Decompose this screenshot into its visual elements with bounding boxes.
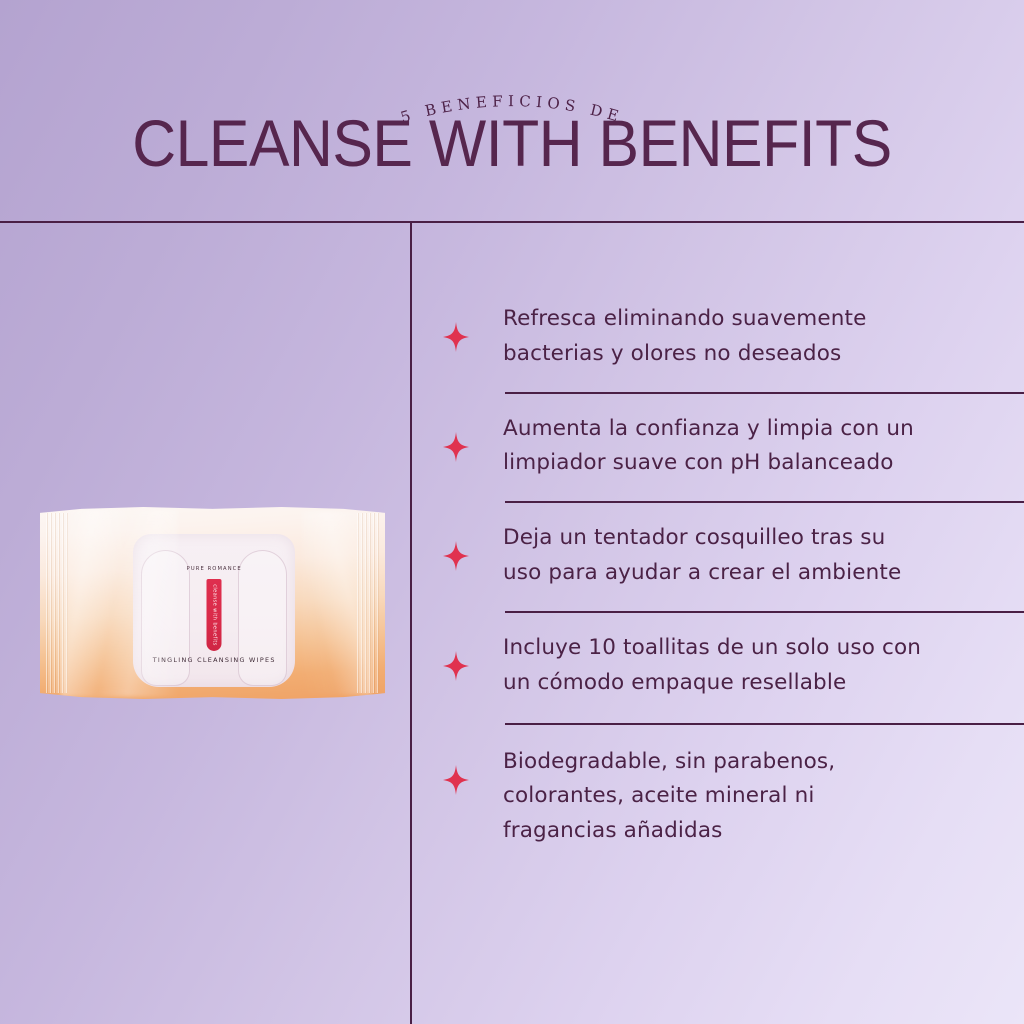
column-divider	[410, 223, 412, 1024]
pouch-crimp-right	[357, 513, 379, 693]
sparkle-icon	[443, 541, 475, 571]
product-name: TINGLING CLEANSING WIPES	[133, 655, 295, 666]
sparkle-icon	[443, 322, 475, 352]
benefit-text: Aumenta la confianza y limpia con un lim…	[475, 412, 1024, 482]
benefit-text: Refresca eliminando suavemente bacterias…	[475, 302, 1024, 372]
benefit-text: Incluye 10 toallitas de un solo uso con …	[475, 631, 1024, 701]
benefit-item-1: Refresca eliminando suavemente bacterias…	[443, 288, 1024, 392]
product-badge-text: cleanse with benefits	[211, 584, 217, 646]
benefits-list: Refresca eliminando suavemente bacterias…	[443, 288, 1024, 869]
benefit-item-4: Incluye 10 toallitas de un solo uso con …	[443, 613, 1024, 723]
product-badge: cleanse with benefits	[207, 579, 222, 651]
product-pouch: PURE ROMANCE cleanse with benefits TINGL…	[40, 505, 385, 701]
sparkle-icon	[443, 651, 475, 681]
sparkle-icon	[443, 765, 475, 795]
benefit-item-2: Aumenta la confianza y limpia con un lim…	[443, 394, 1024, 502]
benefit-text: Deja un tentador cosquilleo tras su uso …	[475, 521, 1024, 591]
benefit-item-3: Deja un tentador cosquilleo tras su uso …	[443, 503, 1024, 611]
benefits-poster: 5 BENEFICIOS DE CLEANSE WITH BENEFITS PU…	[0, 0, 1024, 1024]
pouch-gloss-right	[302, 511, 371, 695]
sparkle-icon	[443, 432, 475, 462]
product-label: PURE ROMANCE cleanse with benefits TINGL…	[133, 534, 295, 687]
header-divider	[0, 221, 1024, 223]
page-title: CLEANSE WITH BENEFITS	[41, 110, 983, 176]
benefit-text: Biodegradable, sin parabenos, colorantes…	[475, 745, 1024, 849]
product-image: PURE ROMANCE cleanse with benefits TINGL…	[40, 505, 385, 701]
pouch-crimp-left	[46, 513, 68, 693]
benefit-item-5: Biodegradable, sin parabenos, colorantes…	[443, 725, 1024, 869]
product-brand: PURE ROMANCE	[133, 566, 295, 572]
